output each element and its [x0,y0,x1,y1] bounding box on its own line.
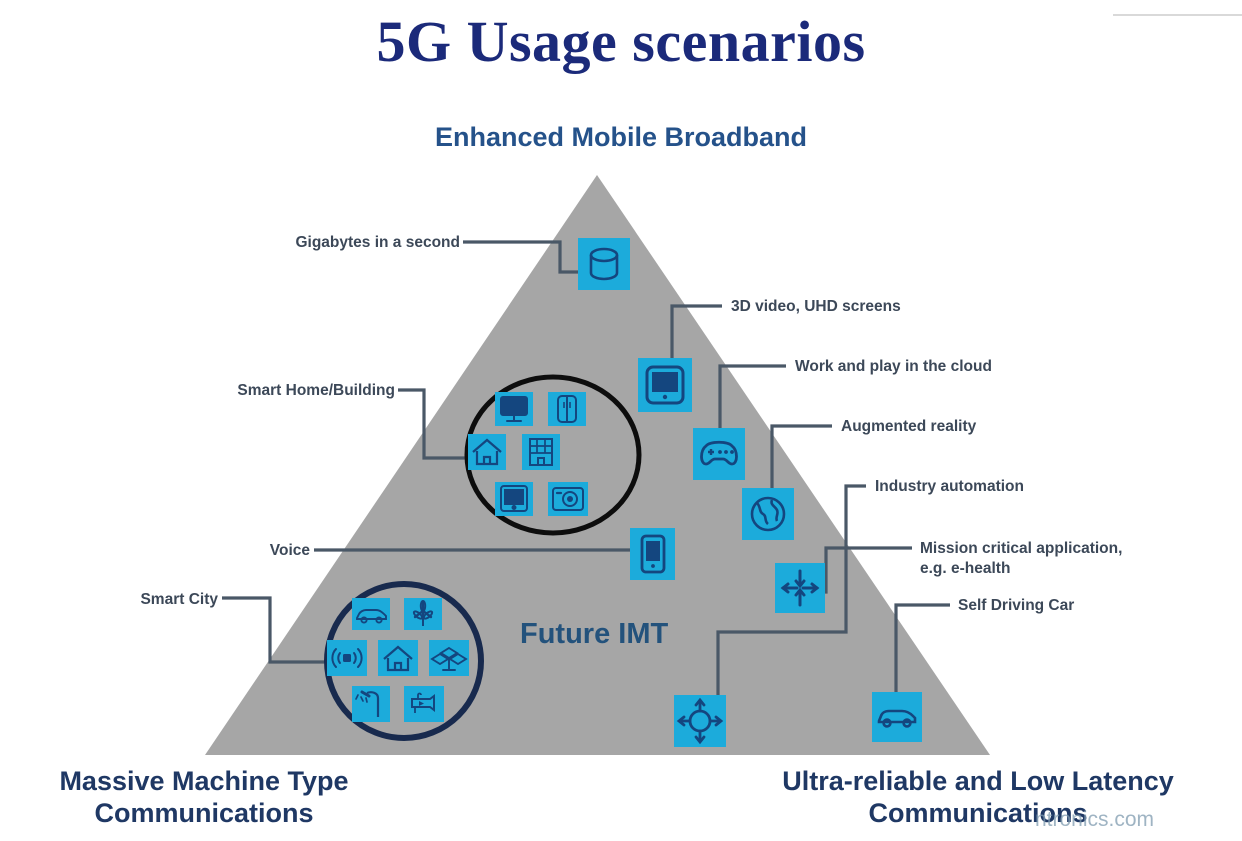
smartphone-tile[interactable] [630,528,675,580]
callout-mission-critical-application: Mission critical application, e.g. e-hea… [920,539,1225,579]
smart-city-tile-car[interactable] [352,598,390,630]
watermark: ntronics.com [1035,808,1154,832]
smart-home-tile-office-building[interactable] [522,434,560,470]
database-tile[interactable] [578,238,630,290]
diagram-canvas: 5G Usage scenarios Enhanced Mobile Broad… [0,0,1242,841]
smart-city-tile-street-light[interactable] [352,686,390,722]
page-title: 5G Usage scenarios [0,8,1242,75]
smart-city-tile-solar-panel[interactable] [429,640,469,676]
connector-gigabytes [463,242,578,272]
smart-home-tile-tablet[interactable] [495,482,533,516]
callout-work-and-play-in-the-cloud: Work and play in the cloud [795,357,992,377]
smart-home-tile-washing-machine[interactable] [548,482,588,516]
smart-city-tile-house[interactable] [378,640,418,676]
gamepad-tile[interactable] [693,428,745,480]
callout-industry-automation: Industry automation [875,477,1024,497]
uhd-screen-tile[interactable] [638,358,692,412]
smart-home-tile-monitor[interactable] [495,392,533,426]
globe-tile[interactable] [742,488,794,540]
smart-city-tile-cctv-camera[interactable] [404,686,444,722]
corner-label-enhanced-mobile-broadband: Enhanced Mobile Broadband [0,122,1242,154]
smart-home-tile-refrigerator[interactable] [548,392,586,426]
robot-hub-tile[interactable] [674,695,726,747]
smart-city-tile-wireless-sensor[interactable] [327,640,367,676]
car-tile[interactable] [872,692,922,742]
industry-arrows-tile[interactable] [775,563,825,613]
smart-city-tile-wind-turbine[interactable] [404,598,442,630]
callout-self-driving-car: Self Driving Car [958,596,1074,616]
callout-smart-city: Smart City [20,590,218,610]
callout-voice: Voice [60,541,310,561]
callout-augmented-reality: Augmented reality [841,417,976,437]
callout-3d-video-uhd-screens: 3D video, UHD screens [731,297,901,317]
wireless-sensor-icon [343,654,351,662]
corner-label-massive-machine-type-communications: Massive Machine Type Communications [4,766,404,829]
callout-gigabytes-in-a-second: Gigabytes in a second [30,233,460,253]
corner-label-ultra-reliable-low-latency-communications: Ultra-reliable and Low Latency Communica… [718,766,1238,829]
callout-smart-home-building: Smart Home/Building [10,381,395,401]
smart-home-tile-house[interactable] [468,434,506,470]
monitor-icon [501,397,527,415]
center-label-future-imt: Future IMT [520,618,668,651]
